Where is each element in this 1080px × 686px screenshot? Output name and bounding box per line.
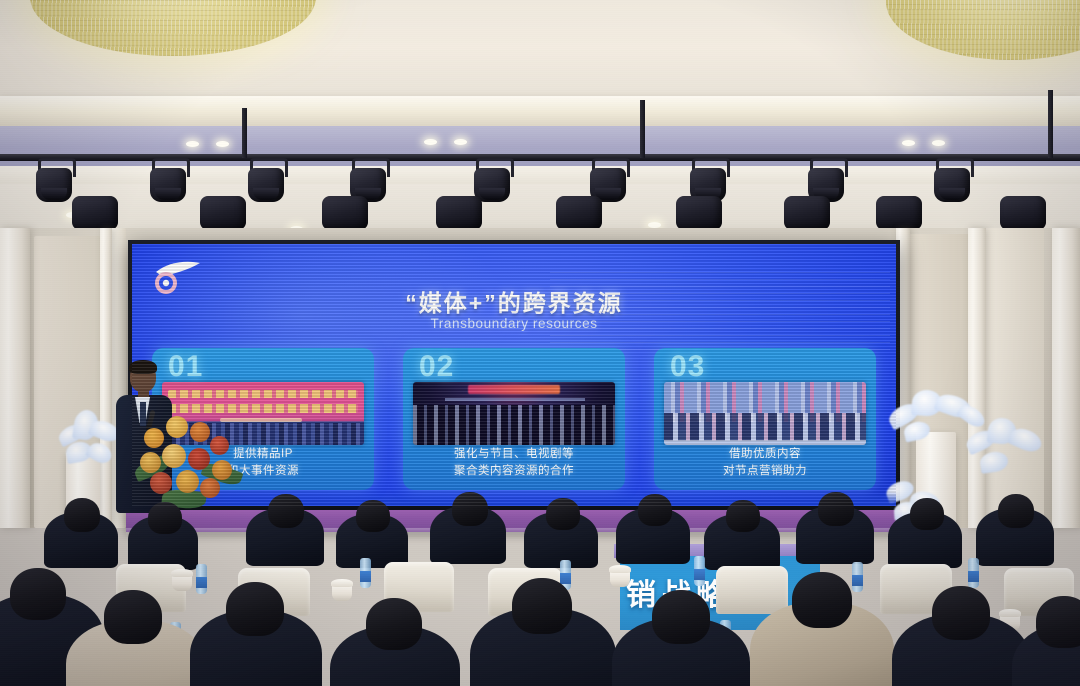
audience-head [512, 578, 572, 634]
slide-subtitle: Transboundary resources [132, 316, 896, 331]
slide-title: “媒体+”的跨界资源 [132, 284, 896, 318]
audience-head [998, 494, 1034, 528]
wall-pilaster [1052, 228, 1080, 528]
audience-head [148, 502, 182, 534]
card-caption-line2: 对节点营销助力 [654, 463, 876, 480]
presenter-hair [129, 360, 157, 374]
audience-head [10, 568, 66, 620]
tea-cup [610, 570, 630, 587]
card-caption-line1: 借助优质内容 [654, 446, 876, 463]
audience-head [932, 586, 990, 640]
podium-flower-arrangement [138, 412, 242, 512]
studio-talk-show-photo [664, 382, 866, 445]
presentation-slide: “媒体+”的跨界资源 Transboundary resources 01 [132, 244, 896, 506]
white-floral-decor-far-right [962, 414, 1048, 484]
truss-drop-rod [640, 100, 645, 158]
led-screen-bezel: “媒体+”的跨界资源 Transboundary resources 01 [128, 240, 900, 510]
crystal-chandelier-left [30, 0, 316, 56]
water-bottle [852, 562, 863, 592]
slide-card-03: 03 借助优质内容 对节点营销助力 [654, 348, 876, 490]
crystal-chandelier-right [886, 0, 1080, 60]
truss-drop-rod [1048, 90, 1053, 158]
audience-head [652, 590, 710, 644]
ceiling-downlight [902, 140, 915, 146]
card-number: 02 [419, 350, 454, 384]
conference-chair [716, 566, 788, 614]
audience-head [226, 582, 284, 636]
conference-stage-photo: “媒体+”的跨界资源 Transboundary resources 01 [0, 0, 1080, 686]
tea-cup [332, 584, 352, 601]
ceiling-downlight [216, 141, 229, 147]
audience-head [356, 500, 390, 532]
audience-head [726, 500, 760, 532]
ceiling-downlight [424, 139, 437, 145]
audience-head [268, 494, 304, 528]
wall-pilaster [0, 228, 30, 528]
water-bottle [360, 558, 371, 588]
audience-head [1036, 596, 1080, 648]
card-number: 03 [670, 350, 705, 384]
audience-head [910, 498, 944, 530]
ceiling-downlight [454, 139, 467, 145]
audience-head [452, 492, 488, 526]
water-bottle [968, 558, 979, 588]
audience-head [104, 590, 162, 644]
ceiling-downlight [186, 141, 199, 147]
truss-drop-rod [242, 108, 247, 158]
ceiling-cove-molding [0, 96, 1080, 126]
water-bottle [196, 564, 207, 594]
slide-card-02: 02 强化与节目、电视剧等 聚合类内容资源的合作 [403, 348, 625, 490]
water-bottle [694, 556, 705, 586]
ceiling-downlight [932, 140, 945, 146]
audience-seating-area [0, 498, 1080, 686]
card-caption: 借助优质内容 对节点营销助力 [654, 446, 876, 480]
tea-cup [172, 574, 192, 591]
audience-head [792, 572, 852, 628]
audience-head [638, 494, 672, 526]
card-caption: 强化与节目、电视剧等 聚合类内容资源的合作 [403, 446, 625, 480]
tv-program-stage-photo [413, 382, 615, 445]
card-caption-line2: 聚合类内容资源的合作 [403, 463, 625, 480]
audience-head [546, 498, 580, 530]
card-caption-line1: 强化与节目、电视剧等 [403, 446, 625, 463]
audience-head [64, 498, 100, 532]
audience-head [818, 492, 854, 526]
slide-card-row: 01 提供精品IP 和大事件资源 [152, 348, 876, 490]
audience-head [366, 598, 422, 650]
